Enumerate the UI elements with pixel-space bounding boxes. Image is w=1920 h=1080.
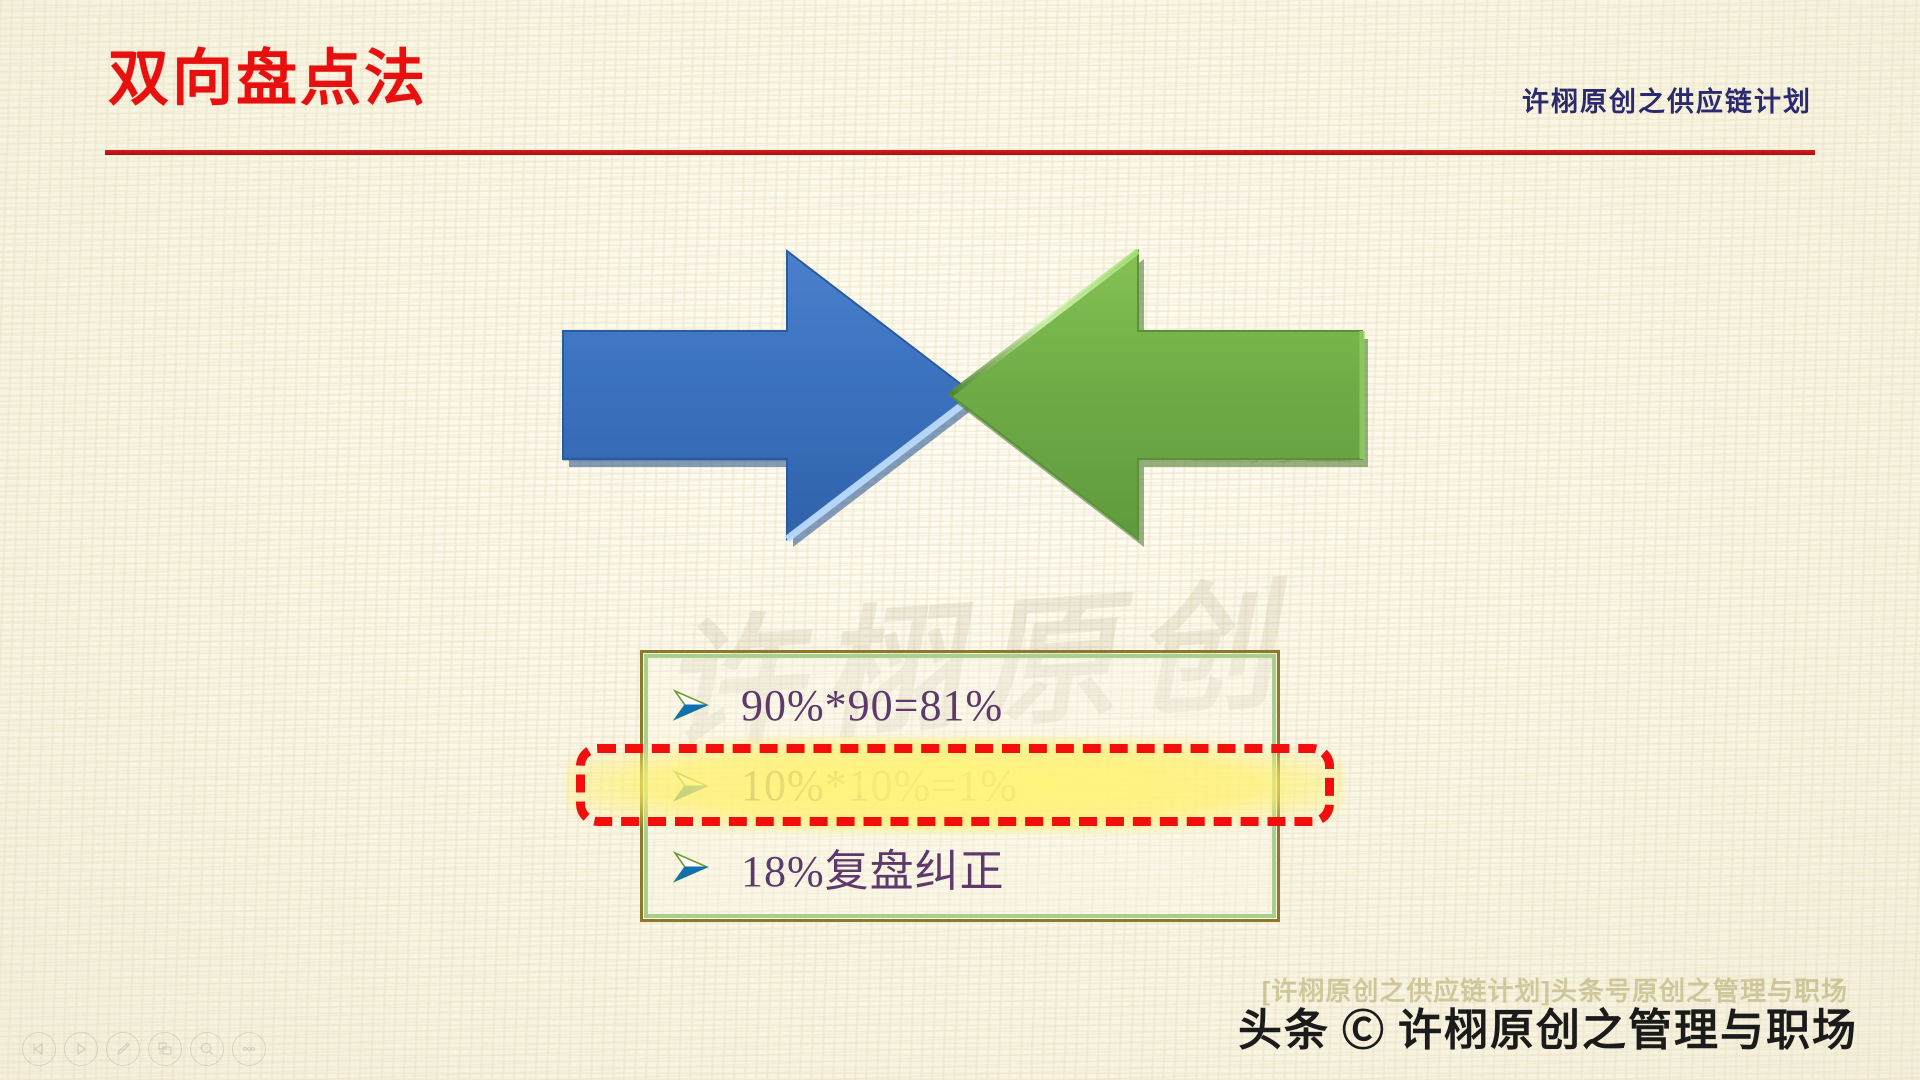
backward-arrow-shape: 反向盘 — [950, 285, 1370, 585]
triangle-left-icon — [31, 1041, 47, 1057]
more-options-button[interactable] — [232, 1032, 266, 1066]
channel-watermark: 头条 Ⓒ 许栩原创之管理与职场 — [1238, 994, 1858, 1058]
slide-overview-button[interactable] — [148, 1032, 182, 1066]
pen-icon — [114, 1040, 132, 1058]
grid-slides-icon — [156, 1040, 174, 1058]
list-item: 10%*10%=1% — [661, 747, 1267, 825]
zoom-button[interactable] — [190, 1032, 224, 1066]
forward-arrow-shape: 正向盘 — [555, 285, 975, 585]
magnifier-icon — [198, 1040, 216, 1058]
page-title: 双向盘点法 — [108, 48, 428, 109]
previous-slide-button[interactable] — [22, 1032, 56, 1066]
list-item-text: 18%复盘纠正 — [723, 835, 1005, 899]
next-slide-button[interactable] — [64, 1032, 98, 1066]
channel-name: 许栩原创之管理与职场 — [1398, 994, 1858, 1058]
arrowhead-bullet-icon — [671, 768, 723, 804]
slideshow-toolbar[interactable] — [22, 1032, 266, 1066]
title-divider-rule — [105, 150, 1815, 155]
header-subtitle: 许栩原创之供应链计划 — [1522, 80, 1812, 119]
list-item: 90%*90=81% — [661, 666, 1267, 744]
list-item-text: 90%*90=81% — [723, 680, 1003, 731]
arrowhead-bullet-icon — [671, 849, 723, 885]
list-item: 18%复盘纠正 — [661, 828, 1267, 906]
presentation-slide: 双向盘点法 许栩原创之供应链计划 许栩原创 — [0, 0, 1920, 1080]
pen-tool-button[interactable] — [106, 1032, 140, 1066]
ellipsis-icon — [240, 1040, 258, 1058]
channel-prefix: 头条 — [1238, 994, 1330, 1058]
formula-list: 90%*90=81% 10%*10%=1% — [661, 665, 1267, 907]
list-item-text: 10%*10%=1% — [723, 760, 1018, 811]
triangle-right-icon — [73, 1041, 89, 1057]
at-symbol: Ⓒ — [1342, 997, 1386, 1058]
formula-list-box: 90%*90=81% 10%*10%=1% — [640, 650, 1280, 922]
arrowhead-bullet-icon — [671, 687, 723, 723]
arrow-diagram: 正向盘 — [0, 285, 1920, 585]
